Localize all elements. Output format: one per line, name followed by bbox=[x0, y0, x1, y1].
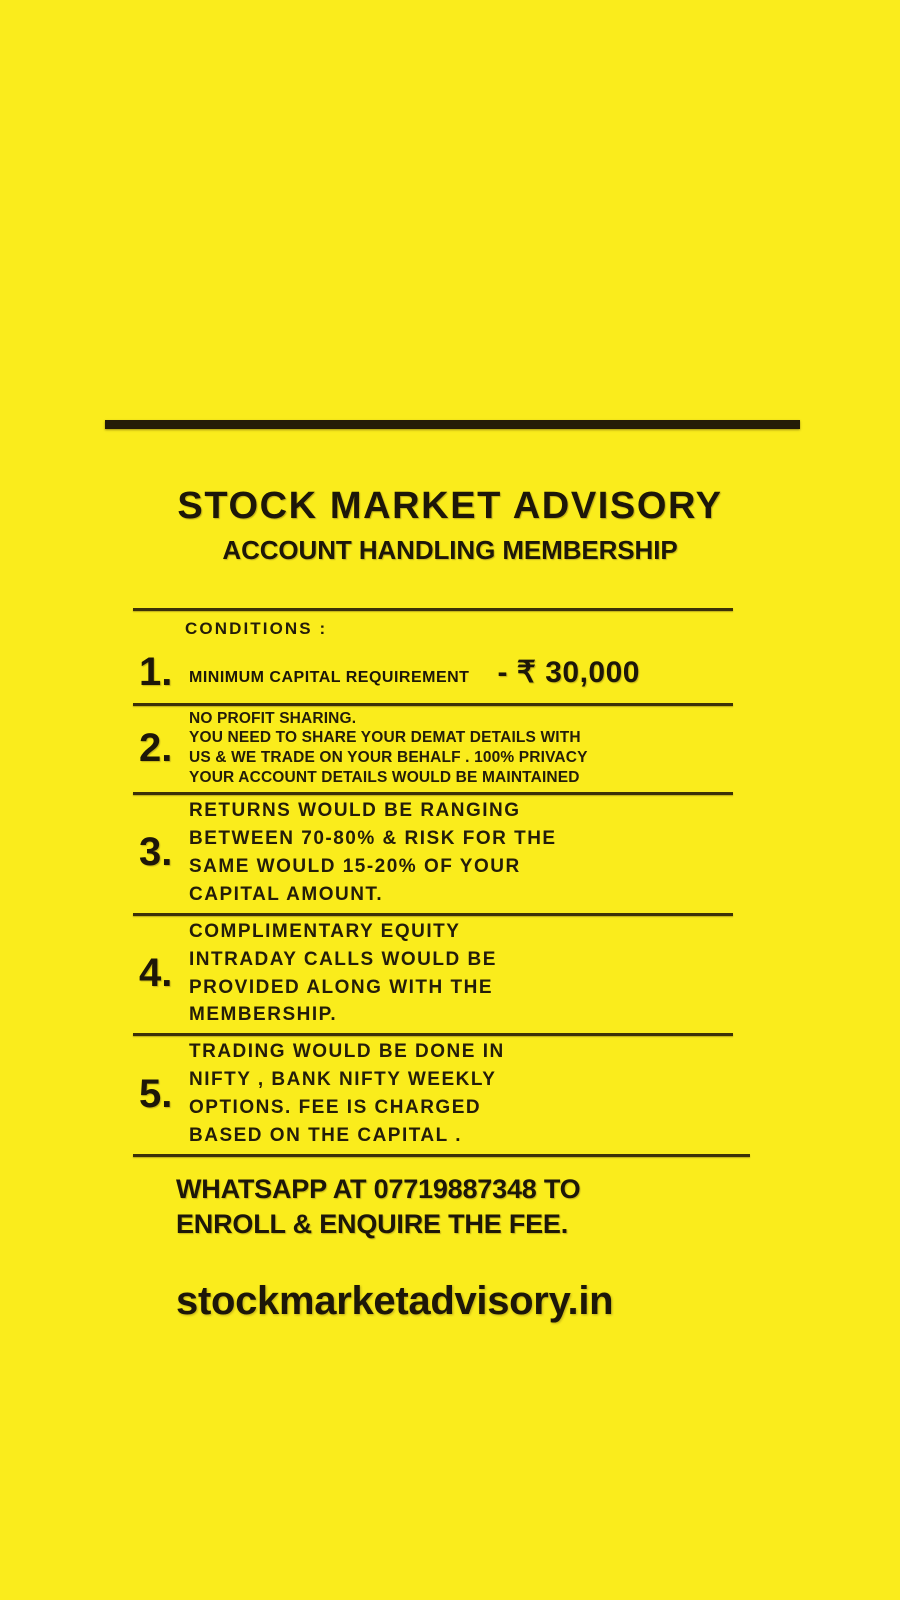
condition-line: CAPITAL AMOUNT. bbox=[189, 881, 751, 909]
condition-line: MEMBERSHIP. bbox=[189, 1001, 751, 1029]
condition-line: US & WE TRADE ON YOUR BEHALF . 100% PRIV… bbox=[189, 748, 751, 768]
condition-row-3: 3. RETURNS WOULD BE RANGING BETWEEN 70-8… bbox=[133, 795, 751, 913]
condition-row-5: 5. TRADING WOULD BE DONE IN NIFTY , BANK… bbox=[133, 1036, 751, 1154]
whatsapp-cta-line-1: WHATSAPP AT 07719887348 TO bbox=[176, 1172, 796, 1207]
minimum-capital-label: MINIMUM CAPITAL REQUIREMENT bbox=[189, 669, 469, 687]
footer-block: WHATSAPP AT 07719887348 TO ENROLL & ENQU… bbox=[176, 1172, 796, 1324]
poster-canvas: STOCK MARKET ADVISORY ACCOUNT HANDLING M… bbox=[0, 0, 900, 1600]
condition-row-4: 4. COMPLIMENTARY EQUITY INTRADAY CALLS W… bbox=[133, 916, 751, 1034]
conditions-list: CONDITIONS : 1. MINIMUM CAPITAL REQUIREM… bbox=[133, 608, 751, 1157]
condition-number-5: 5. bbox=[133, 1076, 189, 1113]
condition-line: NO PROFIT SHARING. bbox=[189, 709, 751, 729]
minimum-capital-price: - ₹ 30,000 bbox=[497, 655, 640, 690]
condition-line: RETURNS WOULD BE RANGING bbox=[189, 797, 751, 825]
condition-body-3: RETURNS WOULD BE RANGING BETWEEN 70-80% … bbox=[189, 797, 751, 909]
condition-line: PROVIDED ALONG WITH THE bbox=[189, 974, 751, 1002]
page-subtitle: ACCOUNT HANDLING MEMBERSHIP bbox=[0, 537, 900, 564]
condition-row-2: 2. NO PROFIT SHARING. YOU NEED TO SHARE … bbox=[133, 706, 751, 792]
condition-body-2: NO PROFIT SHARING. YOU NEED TO SHARE YOU… bbox=[189, 709, 751, 788]
condition-number-1: 1. bbox=[133, 654, 189, 691]
condition-body-4: COMPLIMENTARY EQUITY INTRADAY CALLS WOUL… bbox=[189, 918, 751, 1030]
divider-rule-bottom bbox=[133, 1154, 750, 1157]
condition-number-4: 4. bbox=[133, 955, 189, 992]
page-title: STOCK MARKET ADVISORY bbox=[0, 487, 900, 527]
condition-line: BASED ON THE CAPITAL . bbox=[189, 1122, 751, 1150]
condition-number-2: 2. bbox=[133, 730, 189, 767]
condition-line: YOUR ACCOUNT DETAILS WOULD BE MAINTAINED bbox=[189, 768, 751, 788]
condition-body-5: TRADING WOULD BE DONE IN NIFTY , BANK NI… bbox=[189, 1038, 751, 1150]
title-block: STOCK MARKET ADVISORY ACCOUNT HANDLING M… bbox=[0, 487, 900, 564]
top-divider-bar bbox=[105, 420, 800, 429]
condition-row-1: 1. MINIMUM CAPITAL REQUIREMENT - ₹ 30,00… bbox=[133, 643, 751, 703]
condition-line: INTRADAY CALLS WOULD BE bbox=[189, 946, 751, 974]
condition-line: SAME WOULD 15-20% OF YOUR bbox=[189, 853, 751, 881]
condition-line: NIFTY , BANK NIFTY WEEKLY bbox=[189, 1066, 751, 1094]
condition-line: YOU NEED TO SHARE YOUR DEMAT DETAILS WIT… bbox=[189, 728, 751, 748]
whatsapp-cta-line-2: ENROLL & ENQUIRE THE FEE. bbox=[176, 1207, 796, 1242]
conditions-heading: CONDITIONS : bbox=[133, 611, 751, 643]
condition-line: OPTIONS. FEE IS CHARGED bbox=[189, 1094, 751, 1122]
condition-line: BETWEEN 70-80% & RISK FOR THE bbox=[189, 825, 751, 853]
condition-line: TRADING WOULD BE DONE IN bbox=[189, 1038, 751, 1066]
website-url: stockmarketadvisory.in bbox=[176, 1279, 796, 1324]
condition-body-1: MINIMUM CAPITAL REQUIREMENT - ₹ 30,000 bbox=[189, 655, 751, 690]
condition-number-3: 3. bbox=[133, 834, 189, 871]
condition-line: COMPLIMENTARY EQUITY bbox=[189, 918, 751, 946]
